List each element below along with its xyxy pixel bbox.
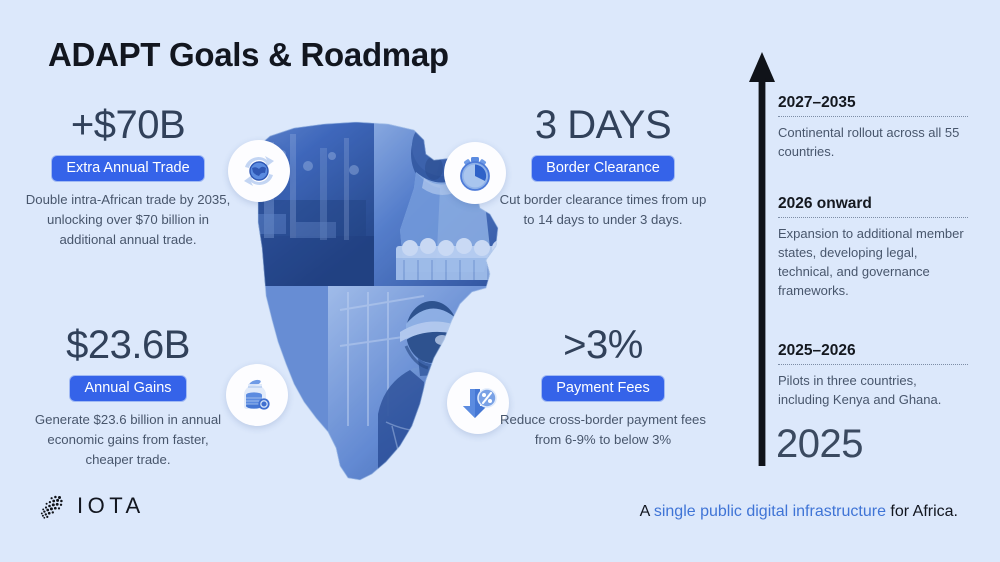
stat-card-gains: $23.6B Annual Gains Generate $23.6 billi… [22, 324, 234, 470]
tagline-tail: for Africa. [886, 503, 958, 520]
stat-value: >3% [497, 324, 709, 366]
stat-card-trade: +$70B Extra Annual Trade Double intra-Af… [22, 104, 234, 250]
timeline-body: Continental rollout across all 55 countr… [778, 124, 968, 162]
status-badge: Payment Fees [542, 376, 664, 401]
iota-mark-icon [38, 492, 66, 520]
stat-description: Cut border clearance times from up to 14… [497, 190, 709, 230]
timeline-heading: 2025–2026 [778, 342, 968, 360]
globe-exchange-icon [228, 140, 290, 202]
stat-value: $23.6B [22, 324, 234, 366]
timeline-entry: 2025–2026 Pilots in three countries, inc… [778, 342, 968, 410]
timeline-base-year: 2025 [776, 422, 863, 467]
stat-value: 3 DAYS [497, 104, 709, 146]
timeline-body: Expansion to additional member states, d… [778, 225, 968, 301]
timeline-divider [778, 217, 968, 218]
status-badge: Extra Annual Trade [52, 156, 203, 181]
tagline-highlight: single public digital infrastructure [654, 503, 886, 520]
stat-description: Reduce cross-border payment fees from 6-… [497, 410, 709, 450]
timeline-entry: 2027–2035 Continental rollout across all… [778, 94, 968, 162]
savings-jar-icon [226, 364, 288, 426]
stat-description: Generate $23.6 billion in annual economi… [22, 410, 234, 470]
roadmap-timeline: 2027–2035 Continental rollout across all… [745, 52, 985, 472]
footer-tagline: A single public digital infrastructure f… [640, 503, 958, 521]
status-badge: Border Clearance [532, 156, 674, 181]
stat-card-fees: >3% Payment Fees Reduce cross-border pay… [497, 324, 709, 450]
iota-logo: IOTA [38, 492, 145, 520]
timeline-divider [778, 364, 968, 365]
stat-description: Double intra-African trade by 2035, unlo… [22, 190, 234, 250]
iota-wordmark: IOTA [77, 493, 145, 519]
tagline-lead: A [640, 503, 654, 520]
timeline-heading: 2027–2035 [778, 94, 968, 112]
timeline-heading: 2026 onward [778, 195, 968, 213]
timeline-entry: 2026 onward Expansion to additional memb… [778, 195, 968, 301]
stat-value: +$70B [22, 104, 234, 146]
infographic-canvas: ADAPT Goals & Roadmap [0, 0, 1000, 562]
page-title: ADAPT Goals & Roadmap [48, 36, 449, 74]
stat-card-border: 3 DAYS Border Clearance Cut border clear… [497, 104, 709, 230]
timeline-body: Pilots in three countries, including Ken… [778, 372, 968, 410]
timeline-divider [778, 116, 968, 117]
status-badge: Annual Gains [70, 376, 185, 401]
